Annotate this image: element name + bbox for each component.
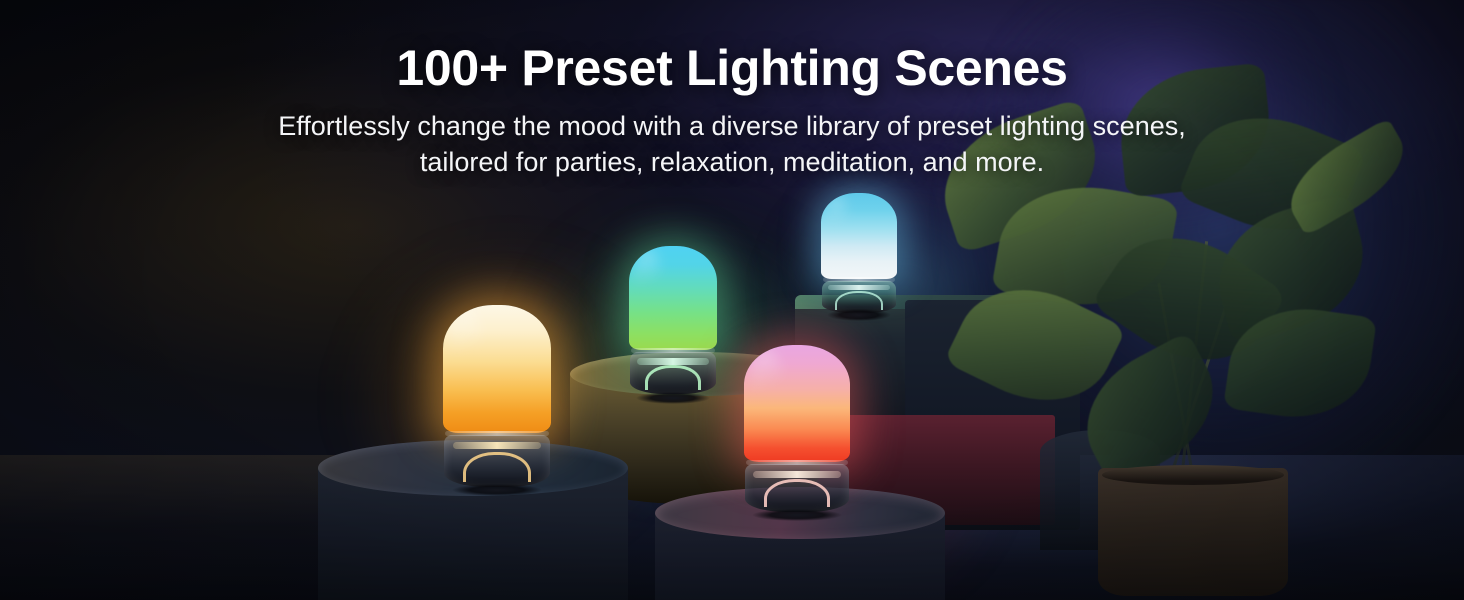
lamp-led-arch [835, 291, 883, 310]
page-title: 100+ Preset Lighting Scenes [0, 40, 1464, 96]
subheading-line-1: Effortlessly change the mood with a dive… [0, 108, 1464, 144]
lamp-reflector-plate [637, 358, 709, 365]
lamp-led-arch [463, 452, 531, 482]
lamp-glass-base [745, 464, 849, 512]
lamp-reflector-plate [828, 285, 891, 290]
lamp-shade [629, 246, 717, 350]
subheading: Effortlessly change the mood with a dive… [0, 108, 1464, 180]
lamp-amber [443, 305, 551, 490]
plant-pot [1098, 468, 1288, 596]
lamp-led-arch [645, 365, 700, 389]
lamp-glass-base [444, 435, 550, 487]
lamp-shade [821, 193, 897, 279]
lamp-shade [443, 305, 551, 433]
subheading-line-2: tailored for parties, relaxation, medita… [0, 144, 1464, 180]
product-hero-banner: 100+ Preset Lighting Scenes Effortlessly… [0, 0, 1464, 600]
lamp-led-arch [764, 479, 830, 507]
lamp-foot-shadow [636, 392, 710, 404]
lamp-reflector-plate [453, 442, 542, 449]
lamp-foot-shadow [827, 309, 891, 321]
lamp-shade [744, 345, 850, 462]
lamp-green [629, 246, 717, 398]
banner-copy: 100+ Preset Lighting Scenes Effortlessly… [0, 0, 1464, 180]
lamp-glass-base [630, 352, 716, 394]
lamp-foot-shadow [452, 484, 543, 496]
lamp-blue [821, 193, 897, 315]
lamp-foot-shadow [752, 509, 841, 521]
lamp-reflector-plate [753, 471, 840, 478]
lamp-pink [744, 345, 850, 515]
